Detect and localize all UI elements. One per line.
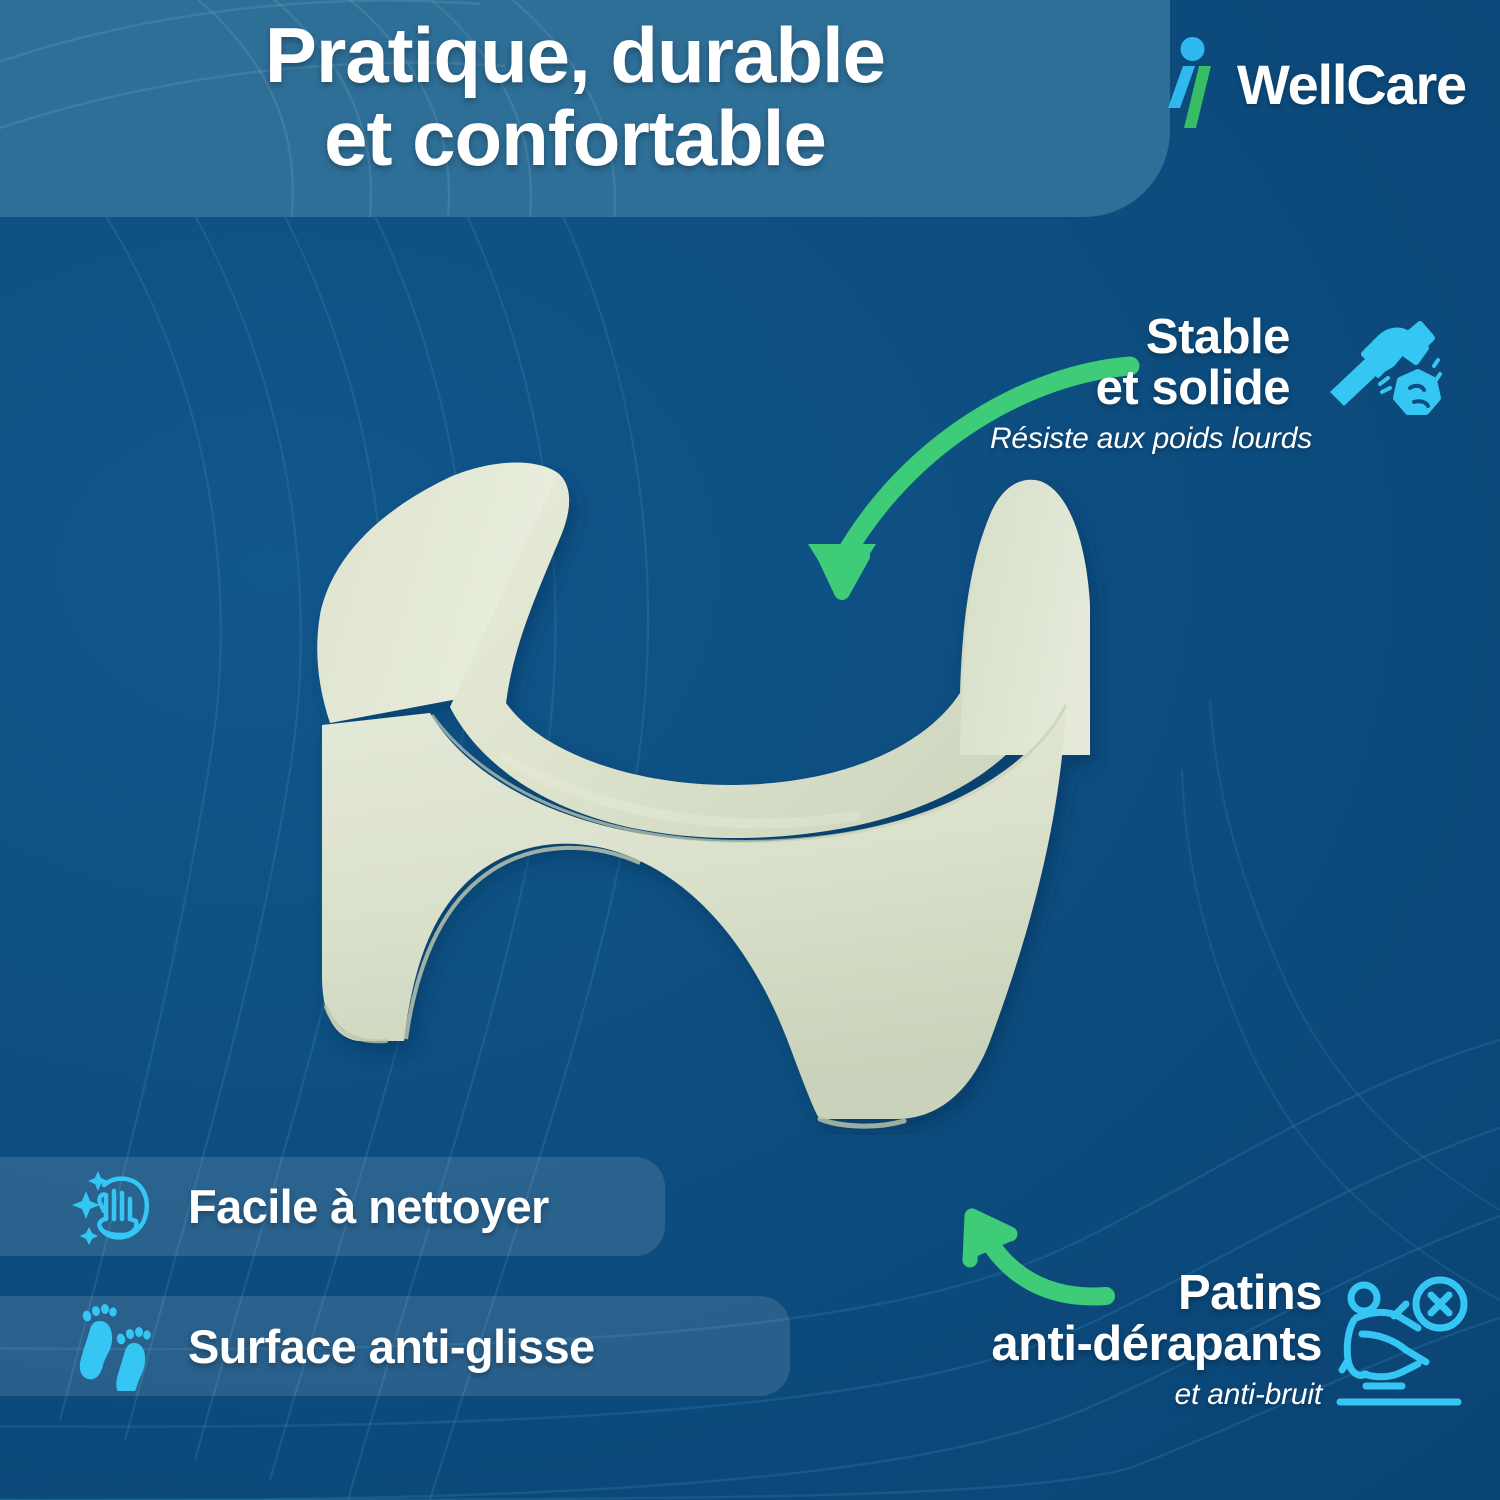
cleaning-hand-sparkle-icon [62, 1165, 166, 1249]
feature-pill-grip[interactable]: Surface anti-glisse [0, 1296, 790, 1396]
brand-logo: WellCare [1161, 36, 1466, 132]
callout-patins-title-line-1: Patins [1178, 1266, 1322, 1320]
person-figure-icon [1161, 36, 1223, 132]
callout-stable-text: Stable et solide Résiste aux poids lourd… [990, 312, 1312, 456]
title-line-2: et confortable [0, 97, 1150, 180]
callout-patins-text: Patins anti-dérapants et anti-bruit [982, 1268, 1322, 1412]
callout-stable: Stable et solide Résiste aux poids lourd… [990, 312, 1442, 456]
brand-name: WellCare [1237, 52, 1466, 117]
slip-hazard-icon [1332, 1274, 1472, 1414]
callout-stable-subtitle: Résiste aux poids lourds [990, 422, 1312, 456]
callout-patins-subtitle: et anti-bruit [982, 1378, 1322, 1412]
callout-patins-title-line-2: anti-dérapants [991, 1317, 1322, 1371]
infographic-canvas: Pratique, durable et confortable WellCar… [0, 0, 1500, 1500]
feature-pill-clean-label: Facile à nettoyer [188, 1179, 549, 1234]
callout-stable-title-line-2: et solide [1096, 361, 1290, 415]
feature-pill-clean[interactable]: Facile à nettoyer [0, 1157, 665, 1256]
hammer-rock-icon [1322, 318, 1442, 430]
title-line-1: Pratique, durable [265, 11, 885, 99]
callout-stable-title-line-1: Stable [1146, 310, 1290, 364]
page-title: Pratique, durable et confortable [0, 14, 1150, 179]
feature-pill-grip-label: Surface anti-glisse [188, 1319, 595, 1374]
callout-patins: Patins anti-dérapants et anti-bruit [982, 1268, 1472, 1414]
callout-patins-title: Patins anti-dérapants [982, 1268, 1322, 1370]
footprints-icon [62, 1301, 166, 1391]
callout-stable-title: Stable et solide [990, 312, 1290, 414]
